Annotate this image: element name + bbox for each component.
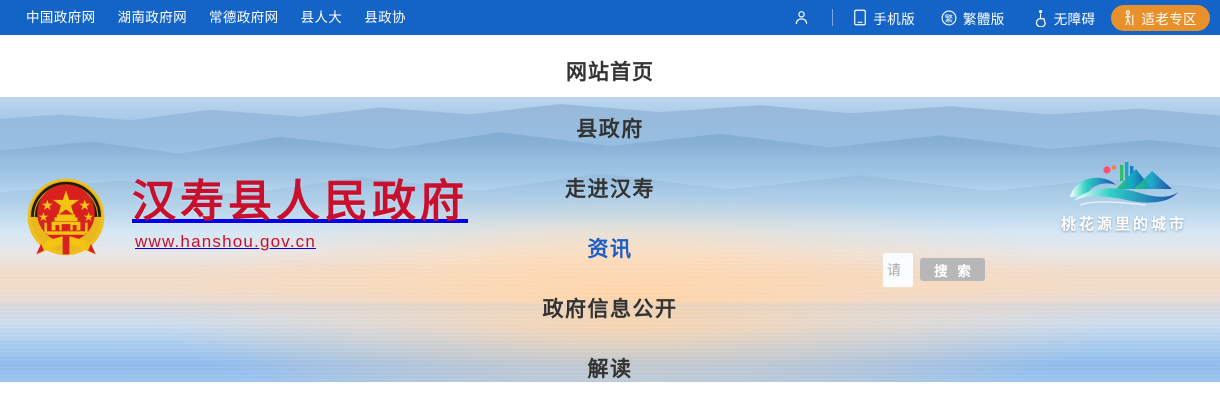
- page-title: 网站首页: [0, 56, 1220, 86]
- main-navigation-menu: 县政府 走进汉寿 资讯 政府信息公开 解读: [0, 97, 1220, 382]
- site-banner: 汉寿县人民政府 www.hanshou.gov.cn 县政府 走进汉寿 资讯 政…: [0, 97, 1220, 382]
- mobile-version-button[interactable]: 手机版: [853, 8, 915, 28]
- elderly-mode-button[interactable]: 适老专区: [1111, 5, 1210, 31]
- elderly-mode-label: 适老专区: [1141, 8, 1197, 28]
- city-slogan-badge: 桃花源里的城市: [1054, 159, 1194, 234]
- traditional-chinese-button[interactable]: 繁 繁體版: [941, 8, 1005, 28]
- page-title-bar: 网站首页: [0, 35, 1220, 97]
- elderly-person-icon: [1122, 10, 1136, 26]
- topbar-link-county-cppcc[interactable]: 县政协: [364, 11, 406, 25]
- topbar-utilities: 手机版 繁 繁體版 无障碍: [793, 0, 1210, 35]
- search-button[interactable]: 搜 索: [920, 258, 985, 281]
- traditional-chinese-icon: 繁: [941, 10, 957, 26]
- search-input[interactable]: [883, 253, 913, 287]
- city-slogan-text: 桃花源里的城市: [1061, 213, 1187, 234]
- spacer: [915, 17, 941, 18]
- mobile-version-label: 手机版: [873, 8, 915, 28]
- menu-item-interpretation[interactable]: 解读: [588, 359, 633, 380]
- wheelchair-accessibility-icon: [1031, 9, 1048, 27]
- accessibility-label: 无障碍: [1054, 8, 1096, 28]
- mobile-phone-icon: [853, 9, 867, 26]
- svg-text:繁: 繁: [945, 13, 954, 23]
- menu-item-county-government[interactable]: 县政府: [576, 119, 644, 140]
- user-icon: [793, 9, 810, 26]
- topbar-link-county-peoples-congress[interactable]: 县人大: [301, 11, 343, 25]
- external-site-links: 中国政府网 湖南政府网 常德政府网 县人大 县政协: [26, 11, 406, 25]
- accessibility-button[interactable]: 无障碍: [1031, 8, 1096, 28]
- traditional-chinese-label: 繁體版: [963, 8, 1005, 28]
- spacer: [1005, 17, 1031, 18]
- topbar-link-changde-gov[interactable]: 常德政府网: [209, 11, 279, 25]
- menu-item-government-info-disclosure[interactable]: 政府信息公开: [543, 299, 678, 320]
- topbar-link-china-gov[interactable]: 中国政府网: [26, 11, 96, 25]
- top-utility-bar: 中国政府网 湖南政府网 常德政府网 县人大 县政协 手机版: [0, 0, 1220, 35]
- city-landscape-mark-icon: [1060, 159, 1188, 211]
- menu-item-news[interactable]: 资讯: [588, 239, 633, 260]
- topbar-divider: [832, 9, 833, 26]
- menu-item-about-hanshou[interactable]: 走进汉寿: [565, 179, 655, 200]
- user-account-button[interactable]: [793, 9, 810, 26]
- page-content-area: [0, 382, 1220, 400]
- topbar-link-hunan-gov[interactable]: 湖南政府网: [118, 11, 188, 25]
